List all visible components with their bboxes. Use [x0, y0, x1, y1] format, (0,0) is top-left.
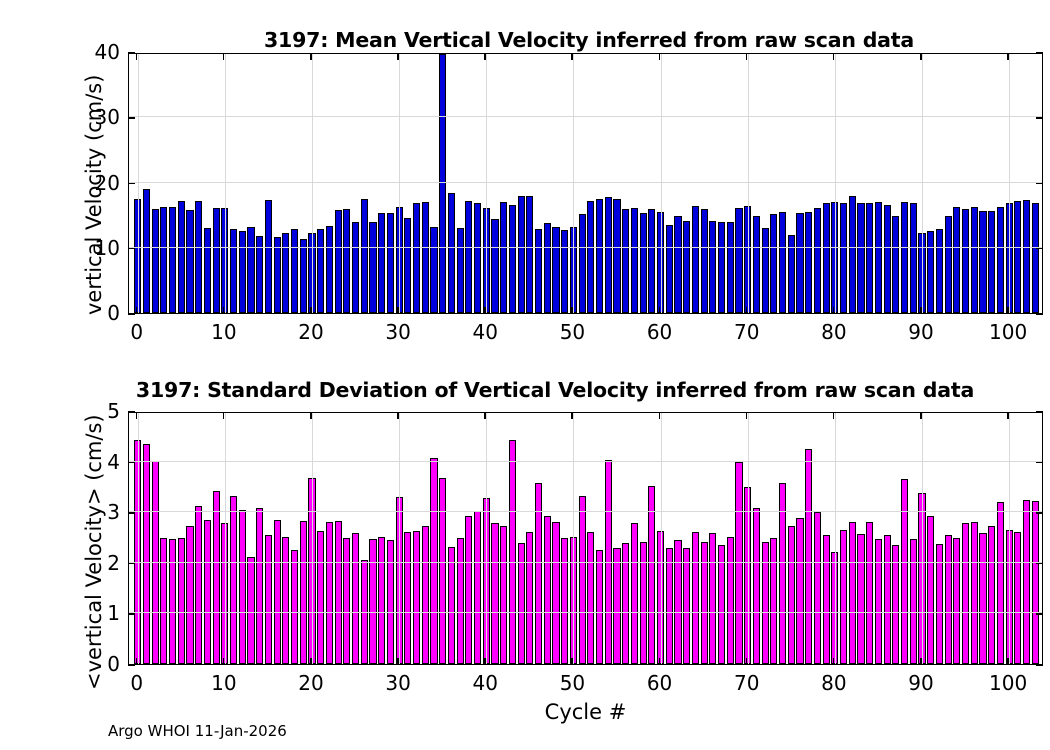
bar [796, 518, 803, 664]
gridline-vertical [748, 54, 749, 313]
x-tick-mark [223, 53, 225, 60]
bar [430, 227, 437, 313]
bar [378, 537, 385, 665]
x-tick-mark [310, 658, 312, 665]
bar [910, 539, 917, 664]
bar [1023, 200, 1030, 313]
x-tick-mark [136, 53, 138, 60]
bar [169, 539, 176, 664]
x-tick-mark [571, 307, 573, 314]
bar [631, 523, 638, 664]
bar [814, 512, 821, 664]
bar [256, 508, 263, 664]
y-tick-mark [128, 563, 135, 565]
bar [178, 538, 185, 665]
bar [213, 491, 220, 664]
x-tick-label: 10 [194, 671, 254, 695]
bar [352, 533, 359, 664]
gridline-vertical [573, 54, 574, 313]
bar [840, 530, 847, 664]
bar [448, 547, 455, 664]
x-tick-mark [1007, 53, 1009, 60]
y-tick-mark [128, 462, 135, 464]
x-tick-label: 100 [978, 671, 1038, 695]
x-tick-mark [484, 412, 486, 419]
bar [265, 535, 272, 664]
gridline-horizontal [129, 116, 1042, 117]
bar [927, 231, 934, 313]
bar [648, 486, 655, 664]
bar [979, 533, 986, 664]
x-tick-label: 60 [630, 320, 690, 344]
x-tick-label: 60 [630, 671, 690, 695]
bar [988, 211, 995, 313]
x-tick-label: 80 [804, 320, 864, 344]
y-tick-label: 4 [62, 450, 120, 474]
bar [300, 239, 307, 313]
gridline-horizontal [129, 562, 1042, 563]
y-tick-label: 40 [62, 40, 120, 64]
bar [178, 201, 185, 313]
bar [544, 223, 551, 313]
x-tick-mark [310, 53, 312, 60]
gridline-vertical [661, 413, 662, 664]
bar [701, 209, 708, 313]
bar [892, 545, 899, 664]
bar [587, 532, 594, 664]
y-tick-label: 1 [62, 601, 120, 625]
gridline-vertical [922, 54, 923, 313]
gridline-horizontal [129, 247, 1042, 248]
x-tick-label: 0 [107, 671, 167, 695]
bar [500, 526, 507, 664]
x-tick-mark [310, 307, 312, 314]
bar [352, 222, 359, 313]
bar [247, 227, 254, 313]
x-tick-mark [571, 658, 573, 665]
x-tick-mark [920, 658, 922, 665]
y-tick-mark [1036, 613, 1043, 615]
bar [343, 209, 350, 313]
bar [875, 202, 882, 313]
bar [152, 209, 159, 313]
y-tick-mark [1036, 664, 1043, 666]
bar [857, 534, 864, 664]
bar [727, 537, 734, 665]
bar [762, 542, 769, 664]
bar [335, 210, 342, 313]
bar [709, 221, 716, 313]
gridline-vertical [399, 413, 400, 664]
bar [230, 229, 237, 313]
bar [378, 213, 385, 313]
bar [474, 511, 481, 664]
gridline-vertical [225, 54, 226, 313]
bar [884, 535, 891, 664]
bar [988, 526, 995, 664]
y-tick-mark [128, 117, 135, 119]
x-tick-label: 30 [368, 320, 428, 344]
x-tick-mark [223, 658, 225, 665]
bar [439, 54, 446, 313]
bar [718, 545, 725, 664]
bar [753, 216, 760, 313]
bar [369, 539, 376, 664]
bar [613, 548, 620, 664]
x-tick-label: 80 [804, 671, 864, 695]
bar [579, 496, 586, 664]
x-tick-mark [571, 412, 573, 419]
x-tick-mark [746, 658, 748, 665]
y-tick-label: 30 [62, 105, 120, 129]
bar [317, 531, 324, 664]
x-tick-label: 0 [107, 320, 167, 344]
bar [143, 189, 150, 313]
x-tick-label: 70 [717, 671, 777, 695]
bar [997, 502, 1004, 664]
bar-series-top [129, 54, 1042, 313]
y-tick-label: 5 [62, 399, 120, 423]
y-tick-mark [1036, 411, 1043, 413]
y-tick-mark [128, 52, 135, 54]
bar [326, 522, 333, 664]
bar [526, 196, 533, 313]
bar [613, 199, 620, 313]
bar [753, 508, 760, 664]
y-tick-mark [1036, 313, 1043, 315]
bar [971, 522, 978, 664]
bar [430, 458, 437, 664]
bar [953, 207, 960, 313]
bar [413, 203, 420, 313]
bar [910, 203, 917, 313]
bar [622, 543, 629, 664]
bar [640, 213, 647, 313]
y-tick-mark [128, 613, 135, 615]
gridline-vertical [312, 54, 313, 313]
bar [361, 199, 368, 313]
x-tick-mark [746, 53, 748, 60]
bar [422, 526, 429, 664]
bar [945, 216, 952, 313]
bar [857, 203, 864, 313]
gridline-vertical [138, 413, 139, 664]
bar [387, 213, 394, 313]
bar [491, 523, 498, 664]
bar [1032, 501, 1039, 664]
gridline-vertical [399, 54, 400, 313]
bar [962, 209, 969, 313]
bar [823, 535, 830, 664]
figure-root: 3197: Mean Vertical Velocity inferred fr… [0, 0, 1050, 750]
bar [762, 228, 769, 313]
x-tick-mark [484, 658, 486, 665]
bar [369, 222, 376, 313]
y-tick-label: 3 [62, 500, 120, 524]
x-tick-label: 50 [542, 320, 602, 344]
x-tick-mark [659, 307, 661, 314]
bar [631, 208, 638, 313]
bar [666, 548, 673, 664]
bar [701, 542, 708, 664]
bar [709, 533, 716, 664]
gridline-vertical [486, 54, 487, 313]
bar [814, 208, 821, 313]
bar [544, 516, 551, 664]
x-tick-label: 40 [455, 320, 515, 344]
bar [683, 548, 690, 664]
bar [500, 202, 507, 313]
x-tick-mark [397, 412, 399, 419]
gridline-vertical [573, 413, 574, 664]
bar [796, 213, 803, 313]
bar [770, 214, 777, 313]
y-tick-mark [1036, 183, 1043, 185]
bar [465, 516, 472, 664]
bar [239, 231, 246, 313]
bar [413, 531, 420, 664]
x-tick-label: 20 [281, 671, 341, 695]
bar [666, 225, 673, 313]
gridline-vertical [748, 413, 749, 664]
y-tick-mark [128, 183, 135, 185]
bar [247, 557, 254, 664]
bar [300, 521, 307, 664]
bar [945, 535, 952, 664]
bar [971, 207, 978, 313]
bar [317, 229, 324, 313]
x-tick-mark [484, 307, 486, 314]
bar [718, 222, 725, 313]
gridline-vertical [225, 413, 226, 664]
gridline-vertical [661, 54, 662, 313]
bar [579, 214, 586, 313]
x-tick-mark [833, 307, 835, 314]
gridline-vertical [1009, 413, 1010, 664]
bar [779, 212, 786, 313]
gridline-horizontal [129, 612, 1042, 613]
x-tick-mark [1007, 307, 1009, 314]
bar [169, 207, 176, 313]
x-tick-mark [136, 307, 138, 314]
bar [160, 207, 167, 313]
x-tick-label: 90 [891, 320, 951, 344]
bar [230, 496, 237, 664]
x-tick-mark [746, 307, 748, 314]
bar [1032, 203, 1039, 313]
bar [849, 196, 856, 313]
bar [622, 209, 629, 313]
x-tick-label: 40 [455, 671, 515, 695]
x-tick-mark [659, 412, 661, 419]
bar [605, 197, 612, 313]
bar [674, 216, 681, 313]
x-tick-label: 30 [368, 671, 428, 695]
bar [927, 516, 934, 664]
x-tick-mark [223, 307, 225, 314]
y-tick-mark [1036, 248, 1043, 250]
bar [997, 207, 1004, 313]
bar [195, 506, 202, 664]
bar [213, 208, 220, 313]
x-tick-mark [920, 53, 922, 60]
bar [552, 227, 559, 313]
bar [692, 532, 699, 664]
bar [186, 526, 193, 664]
bar [866, 522, 873, 664]
gridline-horizontal [129, 461, 1042, 462]
bar [448, 193, 455, 313]
bar [683, 221, 690, 313]
x-tick-mark [920, 307, 922, 314]
x-tick-mark [397, 307, 399, 314]
x-tick-label: 100 [978, 320, 1038, 344]
bar [457, 538, 464, 665]
bar [561, 230, 568, 313]
x-tick-label: 50 [542, 671, 602, 695]
bar [465, 201, 472, 313]
bar [404, 218, 411, 313]
x-tick-mark [223, 412, 225, 419]
bar [535, 229, 542, 313]
plot-area-top [128, 53, 1043, 314]
gridline-vertical [138, 54, 139, 313]
bar [343, 538, 350, 665]
bar [875, 539, 882, 664]
bar [509, 440, 516, 664]
bar [404, 532, 411, 664]
bar [901, 202, 908, 313]
x-tick-mark [659, 53, 661, 60]
bar [526, 532, 533, 664]
y-tick-mark [128, 313, 135, 315]
bar [422, 202, 429, 313]
bar [849, 522, 856, 664]
y-tick-mark [1036, 462, 1043, 464]
bar [587, 201, 594, 313]
x-tick-mark [397, 53, 399, 60]
bar [265, 200, 272, 313]
y-tick-mark [128, 664, 135, 666]
gridline-vertical [1009, 54, 1010, 313]
bar [901, 479, 908, 664]
y-tick-mark [128, 512, 135, 514]
y-tick-label: 20 [62, 171, 120, 195]
bar [805, 449, 812, 664]
bar [509, 205, 516, 313]
bar [823, 203, 830, 313]
bar [840, 203, 847, 313]
bar [143, 444, 150, 664]
chart-title-bottom: 3197: Standard Deviation of Vertical Vel… [60, 378, 1050, 402]
x-tick-mark [136, 412, 138, 419]
y-tick-mark [1036, 512, 1043, 514]
x-tick-mark [397, 658, 399, 665]
bar [274, 237, 281, 313]
bar [387, 540, 394, 664]
x-tick-mark [1007, 412, 1009, 419]
bar [735, 208, 742, 313]
bar [596, 550, 603, 664]
bar [439, 478, 446, 664]
gridline-vertical [835, 413, 836, 664]
bar [692, 206, 699, 313]
x-tick-mark [659, 658, 661, 665]
bar [552, 522, 559, 664]
y-tick-label: 2 [62, 551, 120, 575]
bar [518, 543, 525, 664]
x-tick-mark [1007, 658, 1009, 665]
bar [535, 483, 542, 664]
x-tick-mark [571, 53, 573, 60]
x-tick-mark [484, 53, 486, 60]
y-tick-mark [1036, 563, 1043, 565]
bar [892, 216, 899, 313]
x-tick-label: 10 [194, 320, 254, 344]
gridline-vertical [486, 413, 487, 664]
x-tick-mark [920, 412, 922, 419]
x-tick-label: 70 [717, 320, 777, 344]
x-tick-mark [136, 658, 138, 665]
bar [1023, 500, 1030, 664]
bar [648, 209, 655, 313]
bar [979, 211, 986, 313]
bar [953, 538, 960, 665]
x-tick-label: 20 [281, 320, 341, 344]
bar [805, 212, 812, 313]
bar [674, 540, 681, 664]
y-tick-mark [1036, 117, 1043, 119]
bar [770, 538, 777, 665]
gridline-vertical [312, 413, 313, 664]
bar [474, 203, 481, 313]
bar [779, 483, 786, 664]
gridline-horizontal [129, 511, 1042, 512]
x-axis-label: Cycle # [128, 700, 1043, 724]
x-tick-mark [310, 412, 312, 419]
bar [335, 521, 342, 664]
y-tick-mark [1036, 52, 1043, 54]
y-tick-label: 10 [62, 236, 120, 260]
y-tick-mark [128, 248, 135, 250]
bar [518, 196, 525, 313]
bar [186, 210, 193, 313]
bar [160, 538, 167, 665]
chart-title-top: 3197: Mean Vertical Velocity inferred fr… [128, 28, 1050, 52]
bar [1014, 532, 1021, 664]
gridline-vertical [835, 54, 836, 313]
x-tick-mark [833, 658, 835, 665]
bar [561, 538, 568, 665]
plot-area-bottom [128, 412, 1043, 665]
x-tick-mark [746, 412, 748, 419]
bar [866, 203, 873, 313]
bar [239, 510, 246, 664]
bar [326, 226, 333, 313]
bar [962, 523, 969, 664]
bar [596, 199, 603, 313]
x-tick-label: 90 [891, 671, 951, 695]
bar [282, 537, 289, 665]
bar [640, 542, 647, 664]
bar-series-bottom [129, 413, 1042, 664]
bar [884, 205, 891, 313]
bar [457, 228, 464, 313]
bar [291, 229, 298, 313]
bar [274, 520, 281, 664]
x-tick-mark [833, 412, 835, 419]
gridline-vertical [922, 413, 923, 664]
